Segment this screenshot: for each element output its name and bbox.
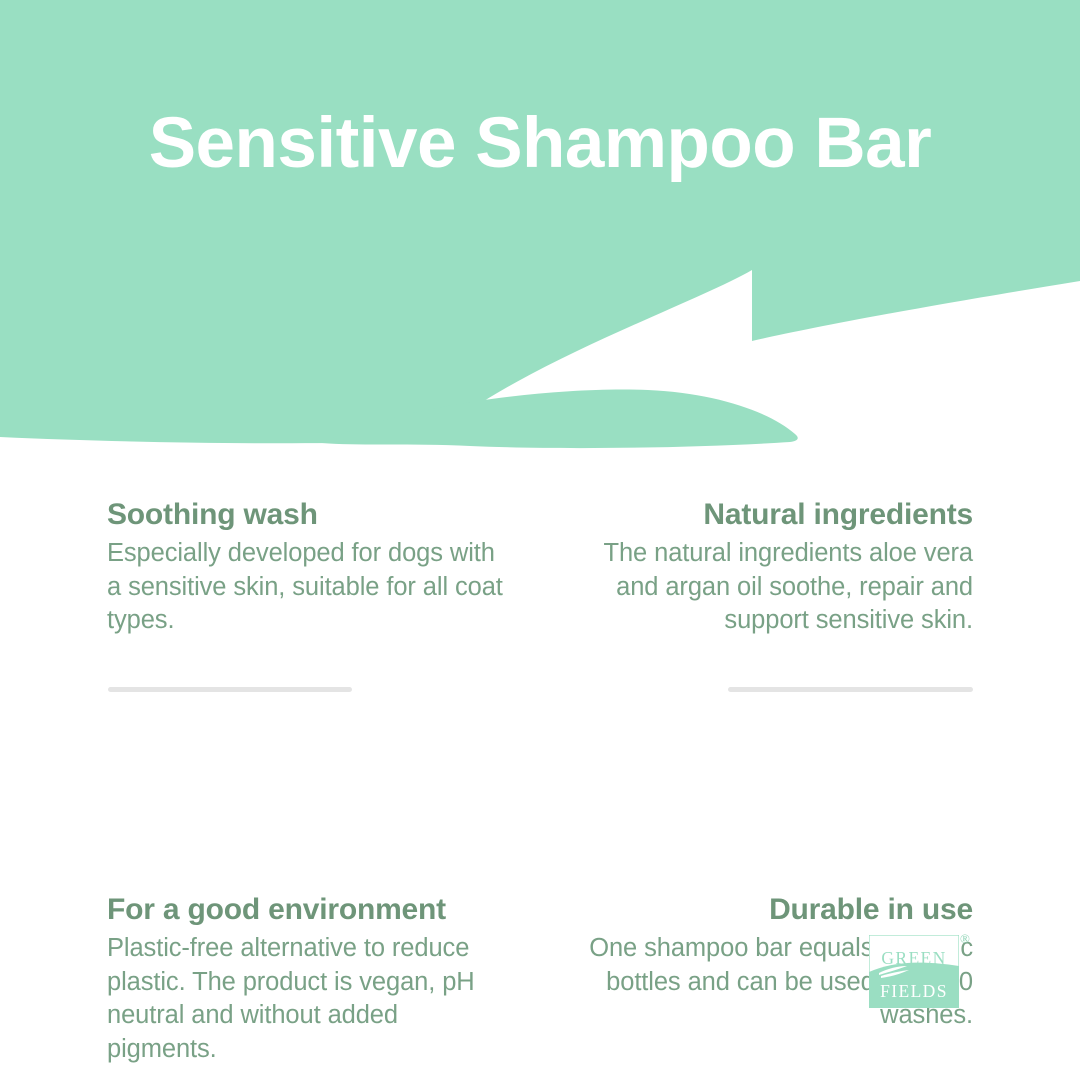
hero-banner: Sensitive Shampoo Bar xyxy=(0,0,1080,470)
registered-trademark-icon: ® xyxy=(960,932,970,945)
poster-canvas: Sensitive Shampoo Bar Soothing wash Espe… xyxy=(0,0,1080,1080)
feature-row-bottom: For a good environment Plastic-free alte… xyxy=(0,688,1080,928)
grass-leaf-wave-icon xyxy=(0,0,1080,470)
feature-body: The natural ingredients aloe vera and ar… xyxy=(568,537,973,639)
feature-title: Soothing wash xyxy=(107,498,512,532)
page-title: Sensitive Shampoo Bar xyxy=(0,108,1080,179)
feature-grid: Soothing wash Especially developed for d… xyxy=(0,498,1080,928)
feature-good-environment: For a good environment Plastic-free alte… xyxy=(107,893,512,1067)
feature-body: Especially developed for dogs with a sen… xyxy=(107,537,512,639)
feature-natural-ingredients: Natural ingredients The natural ingredie… xyxy=(568,498,973,638)
feature-title: For a good environment xyxy=(107,893,512,927)
feature-title: Durable in use xyxy=(568,893,973,927)
feature-row-top: Soothing wash Especially developed for d… xyxy=(0,498,1080,688)
feature-soothing-wash: Soothing wash Especially developed for d… xyxy=(107,498,512,638)
svg-text:GREEN: GREEN xyxy=(881,948,946,968)
svg-text:FIELDS: FIELDS xyxy=(880,981,948,1001)
green-fields-logo-icon: GREEN FIELDS xyxy=(869,935,959,1008)
brand-logo: GREEN FIELDS ® xyxy=(869,935,959,1008)
feature-title: Natural ingredients xyxy=(568,498,973,532)
section-divider-left xyxy=(108,687,352,692)
section-divider-right xyxy=(728,687,973,692)
feature-body: Plastic-free alternative to reduce plast… xyxy=(107,932,512,1068)
